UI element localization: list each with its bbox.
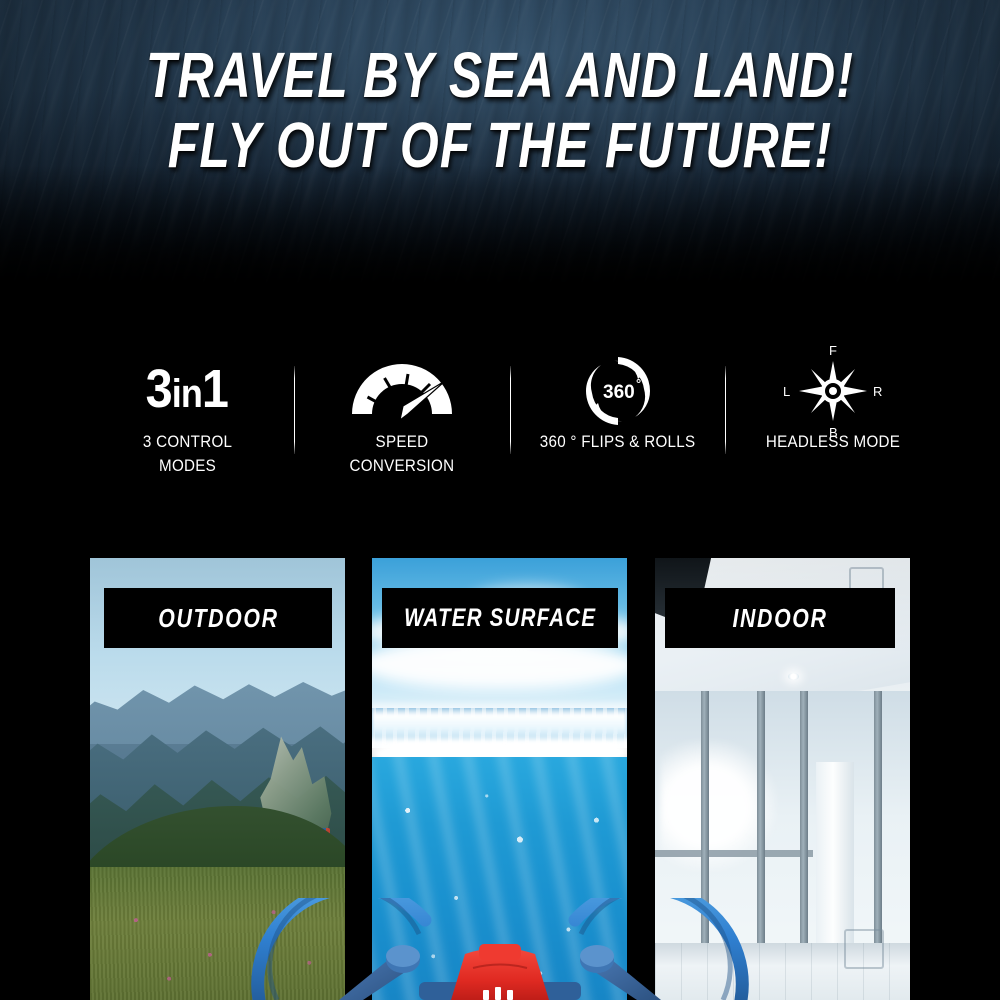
compass-rose-icon: F B L R [781, 352, 885, 430]
3in1-text-icon: 3in1 [141, 352, 233, 430]
compass-right-label: R [873, 384, 882, 399]
panel-label-text: INDOOR [732, 603, 827, 634]
interior-column [816, 762, 854, 943]
feature-three-control-modes: 3in1 3 CONTROL MODES [80, 352, 294, 492]
exterior-railing [655, 850, 813, 857]
feature-headless-mode: F B L R HEADLESS MODE [726, 352, 940, 492]
compass-front-label: F [829, 343, 837, 358]
360-icon-label: 360 [603, 382, 635, 403]
caption-line-1: HEADLESS MODE [766, 430, 900, 454]
headline-line-1: TRAVEL BY SEA AND LAND! [110, 38, 890, 112]
caption-line-2: MODES [142, 454, 231, 478]
panel-label-badge-outdoor: OUTDOOR [104, 588, 332, 648]
3in1-number-three: 3 [146, 361, 172, 417]
feature-flips-and-rolls: 360 ° 360 ° FLIPS & ROLLS [511, 352, 725, 492]
window-mullion [800, 691, 808, 965]
feature-speed-conversion: SPEED CONVERSION [295, 352, 509, 492]
feature-caption-speed-conversion: SPEED CONVERSION [350, 430, 455, 478]
3in1-in-text: in [172, 366, 202, 422]
window-mullion [701, 691, 709, 965]
360-swirl-icon: 360 ° [580, 352, 656, 430]
headline-line-2: FLY OUT OF THE FUTURE! [110, 108, 890, 182]
floor-fixture-outline [844, 929, 885, 969]
window-mullion [757, 691, 765, 965]
bubbles [372, 757, 627, 1000]
feature-highlights-row: 3in1 3 CONTROL MODES [80, 352, 940, 492]
caption-line-1: 3 CONTROL [142, 430, 231, 454]
underwater-region [372, 757, 627, 1000]
compass-left-label: L [783, 384, 790, 399]
3in1-number-one: 1 [202, 361, 228, 417]
panel-label-text: WATER SURFACE [404, 604, 596, 633]
360-icon-degree: ° [636, 376, 641, 391]
panel-label-badge-indoor: INDOOR [665, 588, 895, 648]
speedometer-gauge-icon [346, 352, 458, 430]
feature-caption-three-control-modes: 3 CONTROL MODES [142, 430, 231, 478]
window-mullion [874, 691, 882, 965]
caption-line-1: SPEED [350, 430, 455, 454]
panel-label-badge-water-surface: WATER SURFACE [382, 588, 618, 648]
glass-window-wall [655, 691, 910, 965]
panel-label-text: OUTDOOR [158, 603, 278, 634]
hero-banner: TRAVEL BY SEA AND LAND! FLY OUT OF THE F… [0, 0, 1000, 300]
caption-line-2: CONVERSION [350, 454, 455, 478]
product-feature-banner: TRAVEL BY SEA AND LAND! FLY OUT OF THE F… [0, 0, 1000, 1000]
feature-caption-headless-mode: HEADLESS MODE [766, 430, 900, 454]
feature-caption-flips-and-rolls: 360 ° FLIPS & ROLLS [540, 430, 696, 454]
flower-meadow [90, 867, 345, 1000]
recessed-downlight [788, 673, 799, 680]
caption-line-1: 360 ° FLIPS & ROLLS [540, 430, 696, 454]
